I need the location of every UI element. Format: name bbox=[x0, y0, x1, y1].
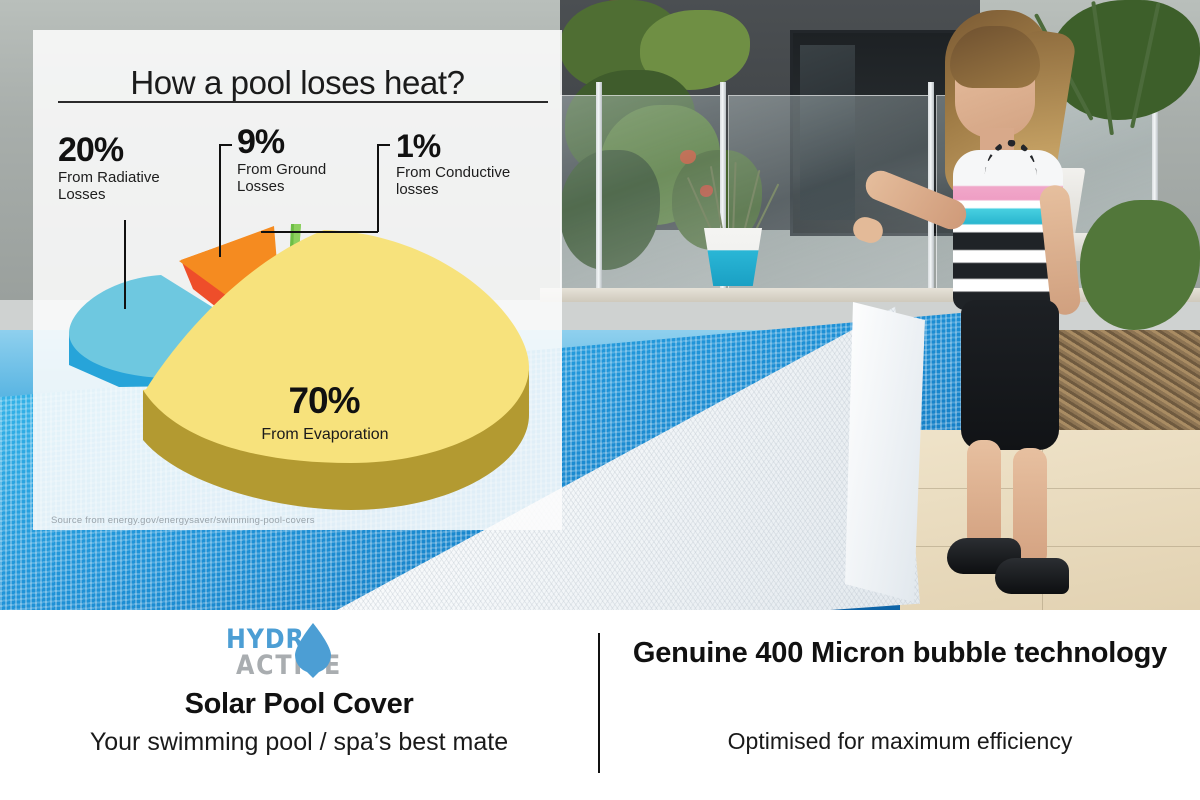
leader-tick-ground bbox=[219, 144, 232, 146]
background-photo: How a pool loses heat? bbox=[0, 0, 1200, 610]
infographic-card: How a pool loses heat? bbox=[33, 30, 562, 530]
ground-pct: 9% bbox=[237, 125, 326, 159]
label-conductive: 1% From Conductive losses bbox=[396, 130, 510, 199]
infographic-canvas: How a pool loses heat? bbox=[0, 0, 1200, 800]
right-product-title: Genuine 400 Micron bubble technology bbox=[600, 636, 1200, 671]
black-capri-leggings bbox=[961, 300, 1059, 450]
source-citation: Source from energy.gov/energysaver/swimm… bbox=[51, 515, 315, 526]
left-product-title: Solar Pool Cover bbox=[0, 688, 598, 721]
left-product-subtitle: Your swimming pool / spa’s best mate bbox=[0, 728, 598, 757]
leader-line-conductive-horizontal bbox=[261, 231, 378, 233]
sneaker-front bbox=[995, 558, 1069, 594]
evaporation-desc: From Evaporation bbox=[261, 426, 388, 443]
conductive-desc-1: From Conductive bbox=[396, 165, 510, 182]
conductive-desc-2: losses bbox=[396, 182, 510, 199]
hand-gripping-cover bbox=[850, 214, 886, 246]
leg-back bbox=[967, 440, 1001, 550]
pie-chart: 70% From Evaporation bbox=[33, 215, 562, 515]
evaporation-pct: 70% bbox=[288, 380, 359, 421]
hair-top bbox=[950, 26, 1040, 88]
leader-line-radiative bbox=[124, 220, 126, 309]
label-ground: 9% From Ground Losses bbox=[237, 125, 326, 196]
radiative-desc-2: Losses bbox=[58, 187, 160, 204]
label-radiative: 20% From Radiative Losses bbox=[58, 133, 160, 204]
product-banner: HYDR ACTIVE Solar Pool Cover Your swimmi… bbox=[0, 610, 1200, 800]
glass-fence-panel bbox=[560, 95, 722, 297]
glass-fence-post bbox=[596, 82, 602, 300]
conductive-pct: 1% bbox=[396, 130, 510, 162]
page-title: How a pool loses heat? bbox=[33, 64, 562, 102]
right-product-subtitle: Optimised for maximum efficiency bbox=[600, 728, 1200, 755]
leader-line-conductive bbox=[377, 144, 379, 232]
ground-desc-2: Losses bbox=[237, 179, 326, 196]
woman-with-pool-cover bbox=[835, 0, 1125, 610]
water-droplet-icon bbox=[292, 622, 334, 678]
hydro-active-logo[interactable]: HYDR ACTIVE bbox=[226, 622, 366, 680]
leader-tick-conductive bbox=[377, 144, 390, 146]
radiative-pct: 20% bbox=[58, 133, 160, 167]
leader-line-ground bbox=[219, 144, 221, 257]
title-divider bbox=[58, 101, 548, 103]
ground-desc-1: From Ground bbox=[237, 162, 326, 179]
radiative-desc-1: From Radiative bbox=[58, 170, 160, 187]
